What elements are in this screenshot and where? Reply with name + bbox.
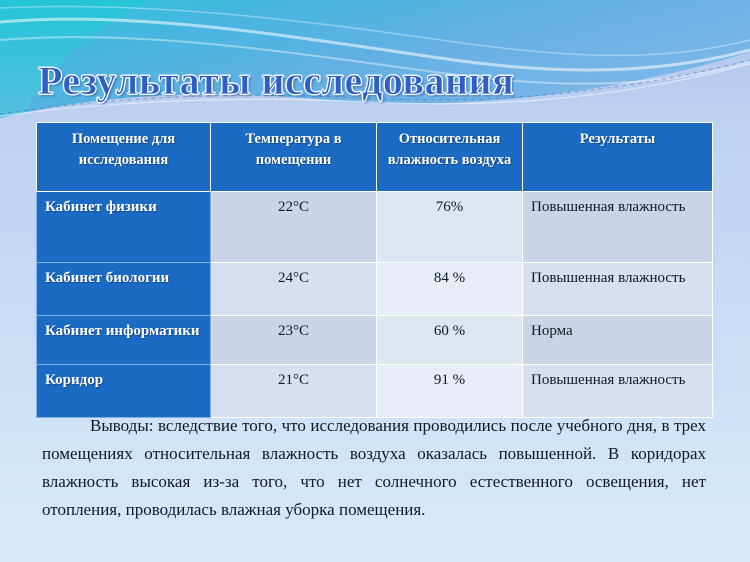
cell-result: Повышенная влажность — [523, 263, 713, 316]
table-row: Кабинет информатики 23°C 60 % Норма — [37, 316, 713, 365]
column-header-results: Результаты — [523, 123, 713, 192]
cell-result: Повышенная влажность — [523, 192, 713, 263]
cell-temperature: 24°C — [211, 263, 377, 316]
cell-temperature: 22°C — [211, 192, 377, 263]
cell-result: Повышенная влажность — [523, 365, 713, 418]
column-header-room-label: Помещение для исследования — [43, 129, 204, 171]
column-header-humidity: Относительная влажность воздуха — [377, 123, 523, 192]
column-header-results-label: Результаты — [529, 129, 706, 150]
cell-room: Кабинет биологии — [37, 263, 211, 316]
results-table-container: Помещение для исследования Температура в… — [36, 122, 712, 418]
cell-humidity: 84 % — [377, 263, 523, 316]
table-body: Кабинет физики 22°C 76% Повышенная влажн… — [37, 192, 713, 418]
page-title: Результаты исследования — [38, 56, 514, 106]
slide-canvas: Результаты исследования Помещение для ис… — [0, 0, 750, 562]
cell-result: Норма — [523, 316, 713, 365]
table-row: Кабинет физики 22°C 76% Повышенная влажн… — [37, 192, 713, 263]
column-header-temperature-label: Температура в помещении — [217, 129, 370, 171]
column-header-humidity-label: Относительная влажность воздуха — [383, 129, 516, 171]
table-row: Коридор 21°C 91 % Повышенная влажность — [37, 365, 713, 418]
title-area: Результаты исследования — [0, 56, 750, 112]
cell-humidity: 60 % — [377, 316, 523, 365]
cell-room: Коридор — [37, 365, 211, 418]
conclusion-paragraph: Выводы: вследствие того, что исследовани… — [42, 412, 706, 524]
cell-room: Кабинет физики — [37, 192, 211, 263]
table-header: Помещение для исследования Температура в… — [37, 123, 713, 192]
column-header-room: Помещение для исследования — [37, 123, 211, 192]
cell-temperature: 21°C — [211, 365, 377, 418]
cell-humidity: 91 % — [377, 365, 523, 418]
table-row: Кабинет биологии 24°C 84 % Повышенная вл… — [37, 263, 713, 316]
cell-room: Кабинет информатики — [37, 316, 211, 365]
results-table: Помещение для исследования Температура в… — [36, 122, 713, 418]
cell-humidity: 76% — [377, 192, 523, 263]
cell-temperature: 23°C — [211, 316, 377, 365]
column-header-temperature: Температура в помещении — [211, 123, 377, 192]
table-header-row: Помещение для исследования Температура в… — [37, 123, 713, 192]
